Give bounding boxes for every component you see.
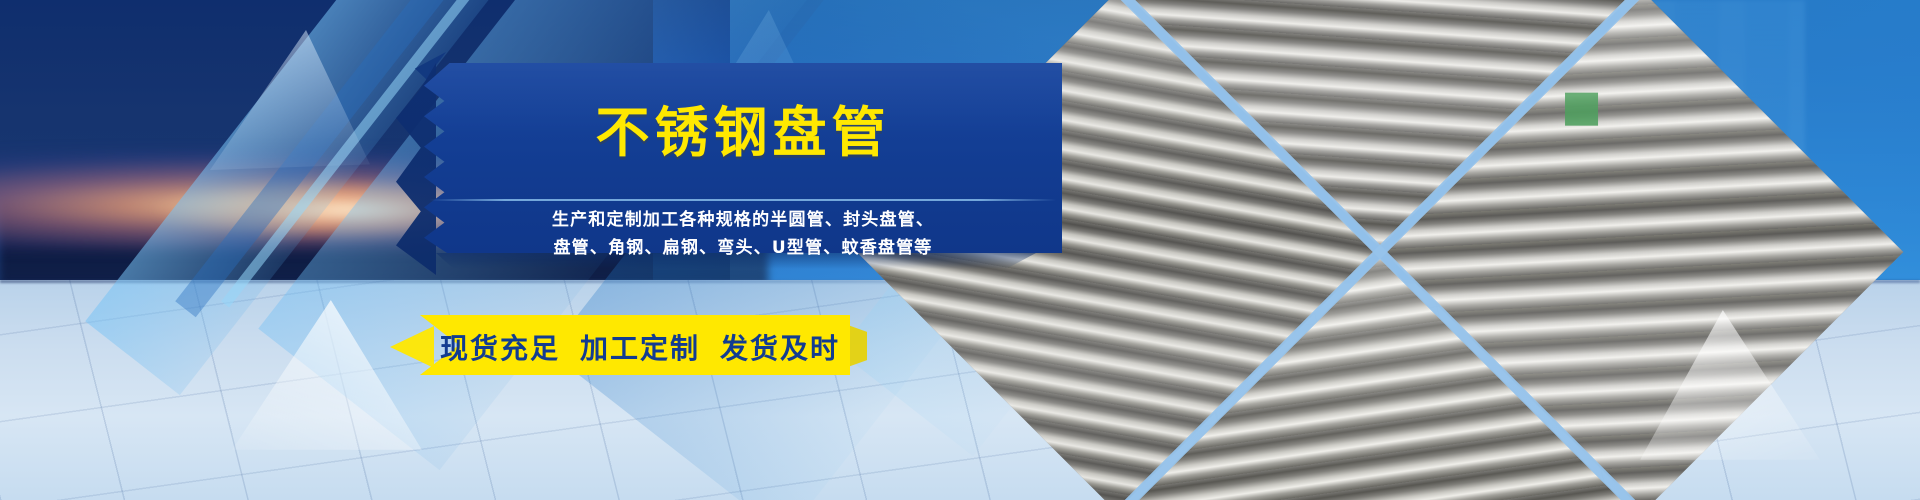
tagline-item-1: 现货充足 xyxy=(440,332,560,365)
tagline-text: 现货充足加工定制发货及时 xyxy=(440,327,840,367)
ribbon-divider xyxy=(430,199,1056,201)
banner-subtitle: 生产和定制加工各种规格的半圆管、封头盘管、 盘管、角钢、扁钢、弯头、U型管、蚊香… xyxy=(424,206,1062,262)
subtitle-line-1: 生产和定制加工各种规格的半圆管、封头盘管、 xyxy=(424,206,1062,234)
product-hero-banner: 不锈钢盘管 生产和定制加工各种规格的半圆管、封头盘管、 盘管、角钢、扁钢、弯头、… xyxy=(0,0,1920,500)
page-title: 不锈钢盘管 xyxy=(424,88,1062,167)
tagline-item-2: 加工定制 xyxy=(580,332,700,365)
tagline-item-3: 发货及时 xyxy=(720,332,840,365)
subtitle-line-2: 盘管、角钢、扁钢、弯头、U型管、蚊香盘管等 xyxy=(424,234,1062,262)
